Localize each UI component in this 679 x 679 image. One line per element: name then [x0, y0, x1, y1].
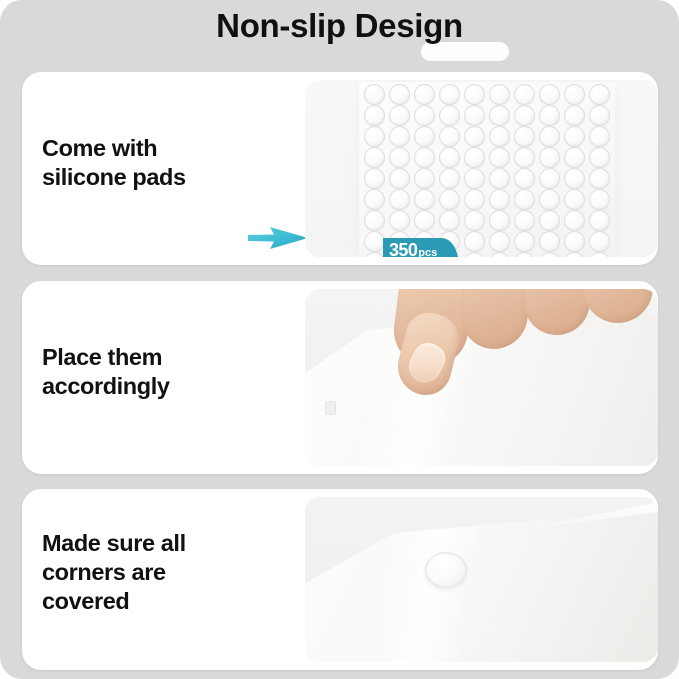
- silicone-pad: [389, 147, 410, 168]
- silicone-pad: [514, 84, 535, 105]
- silicone-pad: [589, 231, 610, 252]
- silicone-pad: [489, 252, 510, 257]
- finger: [460, 289, 532, 351]
- card-3-label: Made sure all corners are covered: [42, 529, 186, 616]
- silicone-pad: [464, 189, 485, 210]
- tray-highlight: [305, 505, 658, 662]
- silicone-pad: [514, 168, 535, 189]
- silicone-pad: [439, 168, 460, 189]
- silicone-pad: [589, 189, 610, 210]
- silicone-pad: [464, 231, 485, 252]
- silicone-pad: [564, 231, 585, 252]
- silicone-pad: [489, 231, 510, 252]
- silicone-pad: [389, 105, 410, 126]
- silicone-pad: [539, 231, 560, 252]
- finger: [576, 289, 656, 326]
- silicone-pad: [439, 210, 460, 231]
- silicone-pad: [539, 84, 560, 105]
- quantity-badge-text: 350 pcs: [389, 240, 437, 257]
- silicone-pad: [539, 168, 560, 189]
- silicone-pad: [439, 147, 460, 168]
- silicone-pad: [439, 84, 460, 105]
- silicone-pad: [589, 84, 610, 105]
- title-area: Non-slip Design: [0, 0, 679, 70]
- silicone-pad: [514, 231, 535, 252]
- card-2-label: Place them accordingly: [42, 343, 170, 401]
- silicone-pad: [564, 189, 585, 210]
- silicone-pad: [364, 84, 385, 105]
- silicone-pad: [364, 252, 385, 257]
- silicone-pad: [564, 210, 585, 231]
- hand-placing-pad-photo: [305, 289, 658, 466]
- silicone-pad: [489, 168, 510, 189]
- silicone-pad: [414, 189, 435, 210]
- tray-corner-pad-photo: [305, 497, 658, 662]
- silicone-pad: [489, 105, 510, 126]
- silicone-pad: [364, 168, 385, 189]
- silicone-pad: [489, 210, 510, 231]
- silicone-pad: [464, 126, 485, 147]
- silicone-pad: [364, 210, 385, 231]
- card-1-label: Come with silicone pads: [42, 134, 186, 192]
- silicone-pad: [589, 168, 610, 189]
- hand: [393, 289, 658, 409]
- finger: [521, 289, 591, 336]
- pad-grid: [359, 82, 615, 257]
- silicone-pad: [539, 126, 560, 147]
- silicone-pad: [389, 189, 410, 210]
- silicone-pad: [414, 168, 435, 189]
- silicone-pad: [439, 105, 460, 126]
- silicone-pad: [564, 126, 585, 147]
- silicone-pad: [589, 147, 610, 168]
- silicone-pad: [464, 147, 485, 168]
- tray-notch: [325, 401, 336, 415]
- arrow-right-icon: [248, 225, 310, 251]
- feature-card-3: Made sure all corners are covered: [22, 489, 658, 670]
- silicone-pad: [514, 126, 535, 147]
- silicone-pad: [364, 126, 385, 147]
- silicone-pad: [464, 84, 485, 105]
- silicone-pad: [489, 189, 510, 210]
- silicone-pad: [489, 147, 510, 168]
- page-title: Non-slip Design: [0, 7, 679, 45]
- silicone-pad: [389, 168, 410, 189]
- silicone-pad: [539, 105, 560, 126]
- quantity-badge: 350 pcs: [383, 238, 459, 257]
- silicone-pad: [414, 126, 435, 147]
- silicone-pad: [364, 189, 385, 210]
- silicone-pad: [539, 147, 560, 168]
- silicone-pad: [364, 105, 385, 126]
- silicone-pad: [489, 126, 510, 147]
- silicone-pad: [439, 126, 460, 147]
- silicone-pad: [414, 105, 435, 126]
- silicone-pad: [514, 147, 535, 168]
- silicone-pad: [564, 84, 585, 105]
- silicone-pad: [514, 189, 535, 210]
- silicone-pad: [464, 210, 485, 231]
- silicone-pad: [464, 252, 485, 257]
- quantity-unit: pcs: [418, 243, 437, 257]
- silicone-pad: [539, 210, 560, 231]
- silicone-pad-sheet-photo: 350 pcs: [305, 80, 658, 257]
- silicone-pad: [589, 126, 610, 147]
- silicone-pad: [514, 252, 535, 257]
- silicone-pad: [564, 147, 585, 168]
- silicone-pad: [514, 210, 535, 231]
- silicone-pad: [564, 252, 585, 257]
- silicone-pad: [589, 252, 610, 257]
- silicone-pad: [364, 231, 385, 252]
- silicone-pad: [589, 210, 610, 231]
- silicone-pad: [564, 105, 585, 126]
- thumbnail: [403, 338, 450, 388]
- silicone-pad: [464, 168, 485, 189]
- silicone-pad: [389, 210, 410, 231]
- silicone-pad: [564, 168, 585, 189]
- silicone-pad: [514, 105, 535, 126]
- silicone-pad: [464, 105, 485, 126]
- silicone-pad: [414, 210, 435, 231]
- quantity-number: 350: [389, 240, 417, 257]
- infographic-panel: Non-slip Design Come with silicone pads: [0, 0, 679, 679]
- silicone-pad: [414, 147, 435, 168]
- silicone-pad: [389, 84, 410, 105]
- feature-card-2: Place them accordingly: [22, 281, 658, 474]
- silicone-pad: [589, 105, 610, 126]
- pad-sheet: [359, 82, 615, 257]
- silicone-pad: [439, 189, 460, 210]
- silicone-pad: [389, 126, 410, 147]
- silicone-pad: [364, 147, 385, 168]
- silicone-pad: [539, 189, 560, 210]
- silicone-pad: [414, 84, 435, 105]
- feature-card-1: Come with silicone pads: [22, 72, 658, 265]
- silicone-pad: [425, 552, 467, 588]
- silicone-pad: [539, 252, 560, 257]
- silicone-pad: [489, 84, 510, 105]
